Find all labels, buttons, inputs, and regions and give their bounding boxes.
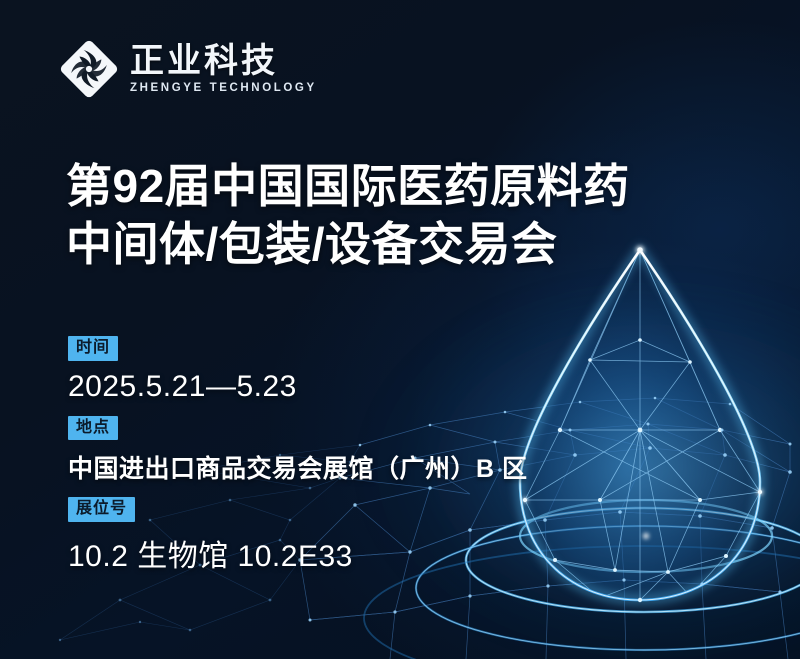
detail-row-time: 时间 2025.5.21—5.23 [68, 336, 528, 404]
brand-name-en: ZHENGYE TECHNOLOGY [130, 82, 317, 94]
event-details: 时间 2025.5.21—5.23 地点 中国进出口商品交易会展馆（广州）B 区… [68, 336, 528, 575]
value-time: 2025.5.21—5.23 [68, 370, 528, 404]
title-line-1: 第92届中国国际医药原料药 [66, 158, 686, 216]
detail-row-venue: 地点 中国进出口商品交易会展馆（广州）B 区 [68, 416, 528, 486]
brand-logo: 正业科技 ZHENGYE TECHNOLOGY [58, 38, 317, 100]
title-line-2: 中间体/包装/设备交易会 [66, 216, 686, 274]
label-badge-booth: 展位号 [68, 497, 135, 522]
value-booth: 10.2 生物馆 10.2E33 [68, 531, 528, 575]
value-venue: 中国进出口商品交易会展馆（广州）B 区 [68, 449, 528, 485]
detail-row-booth: 展位号 10.2 生物馆 10.2E33 [68, 497, 528, 575]
event-poster: 正业科技 ZHENGYE TECHNOLOGY 第92届中国国际医药原料药 中间… [0, 0, 800, 659]
label-badge-venue: 地点 [68, 416, 118, 441]
zhengye-diamond-swirl-logo-icon [58, 38, 120, 100]
label-badge-time: 时间 [68, 336, 118, 361]
poster-title: 第92届中国国际医药原料药 中间体/包装/设备交易会 [66, 158, 686, 274]
brand-name-cn: 正业科技 [130, 44, 317, 80]
